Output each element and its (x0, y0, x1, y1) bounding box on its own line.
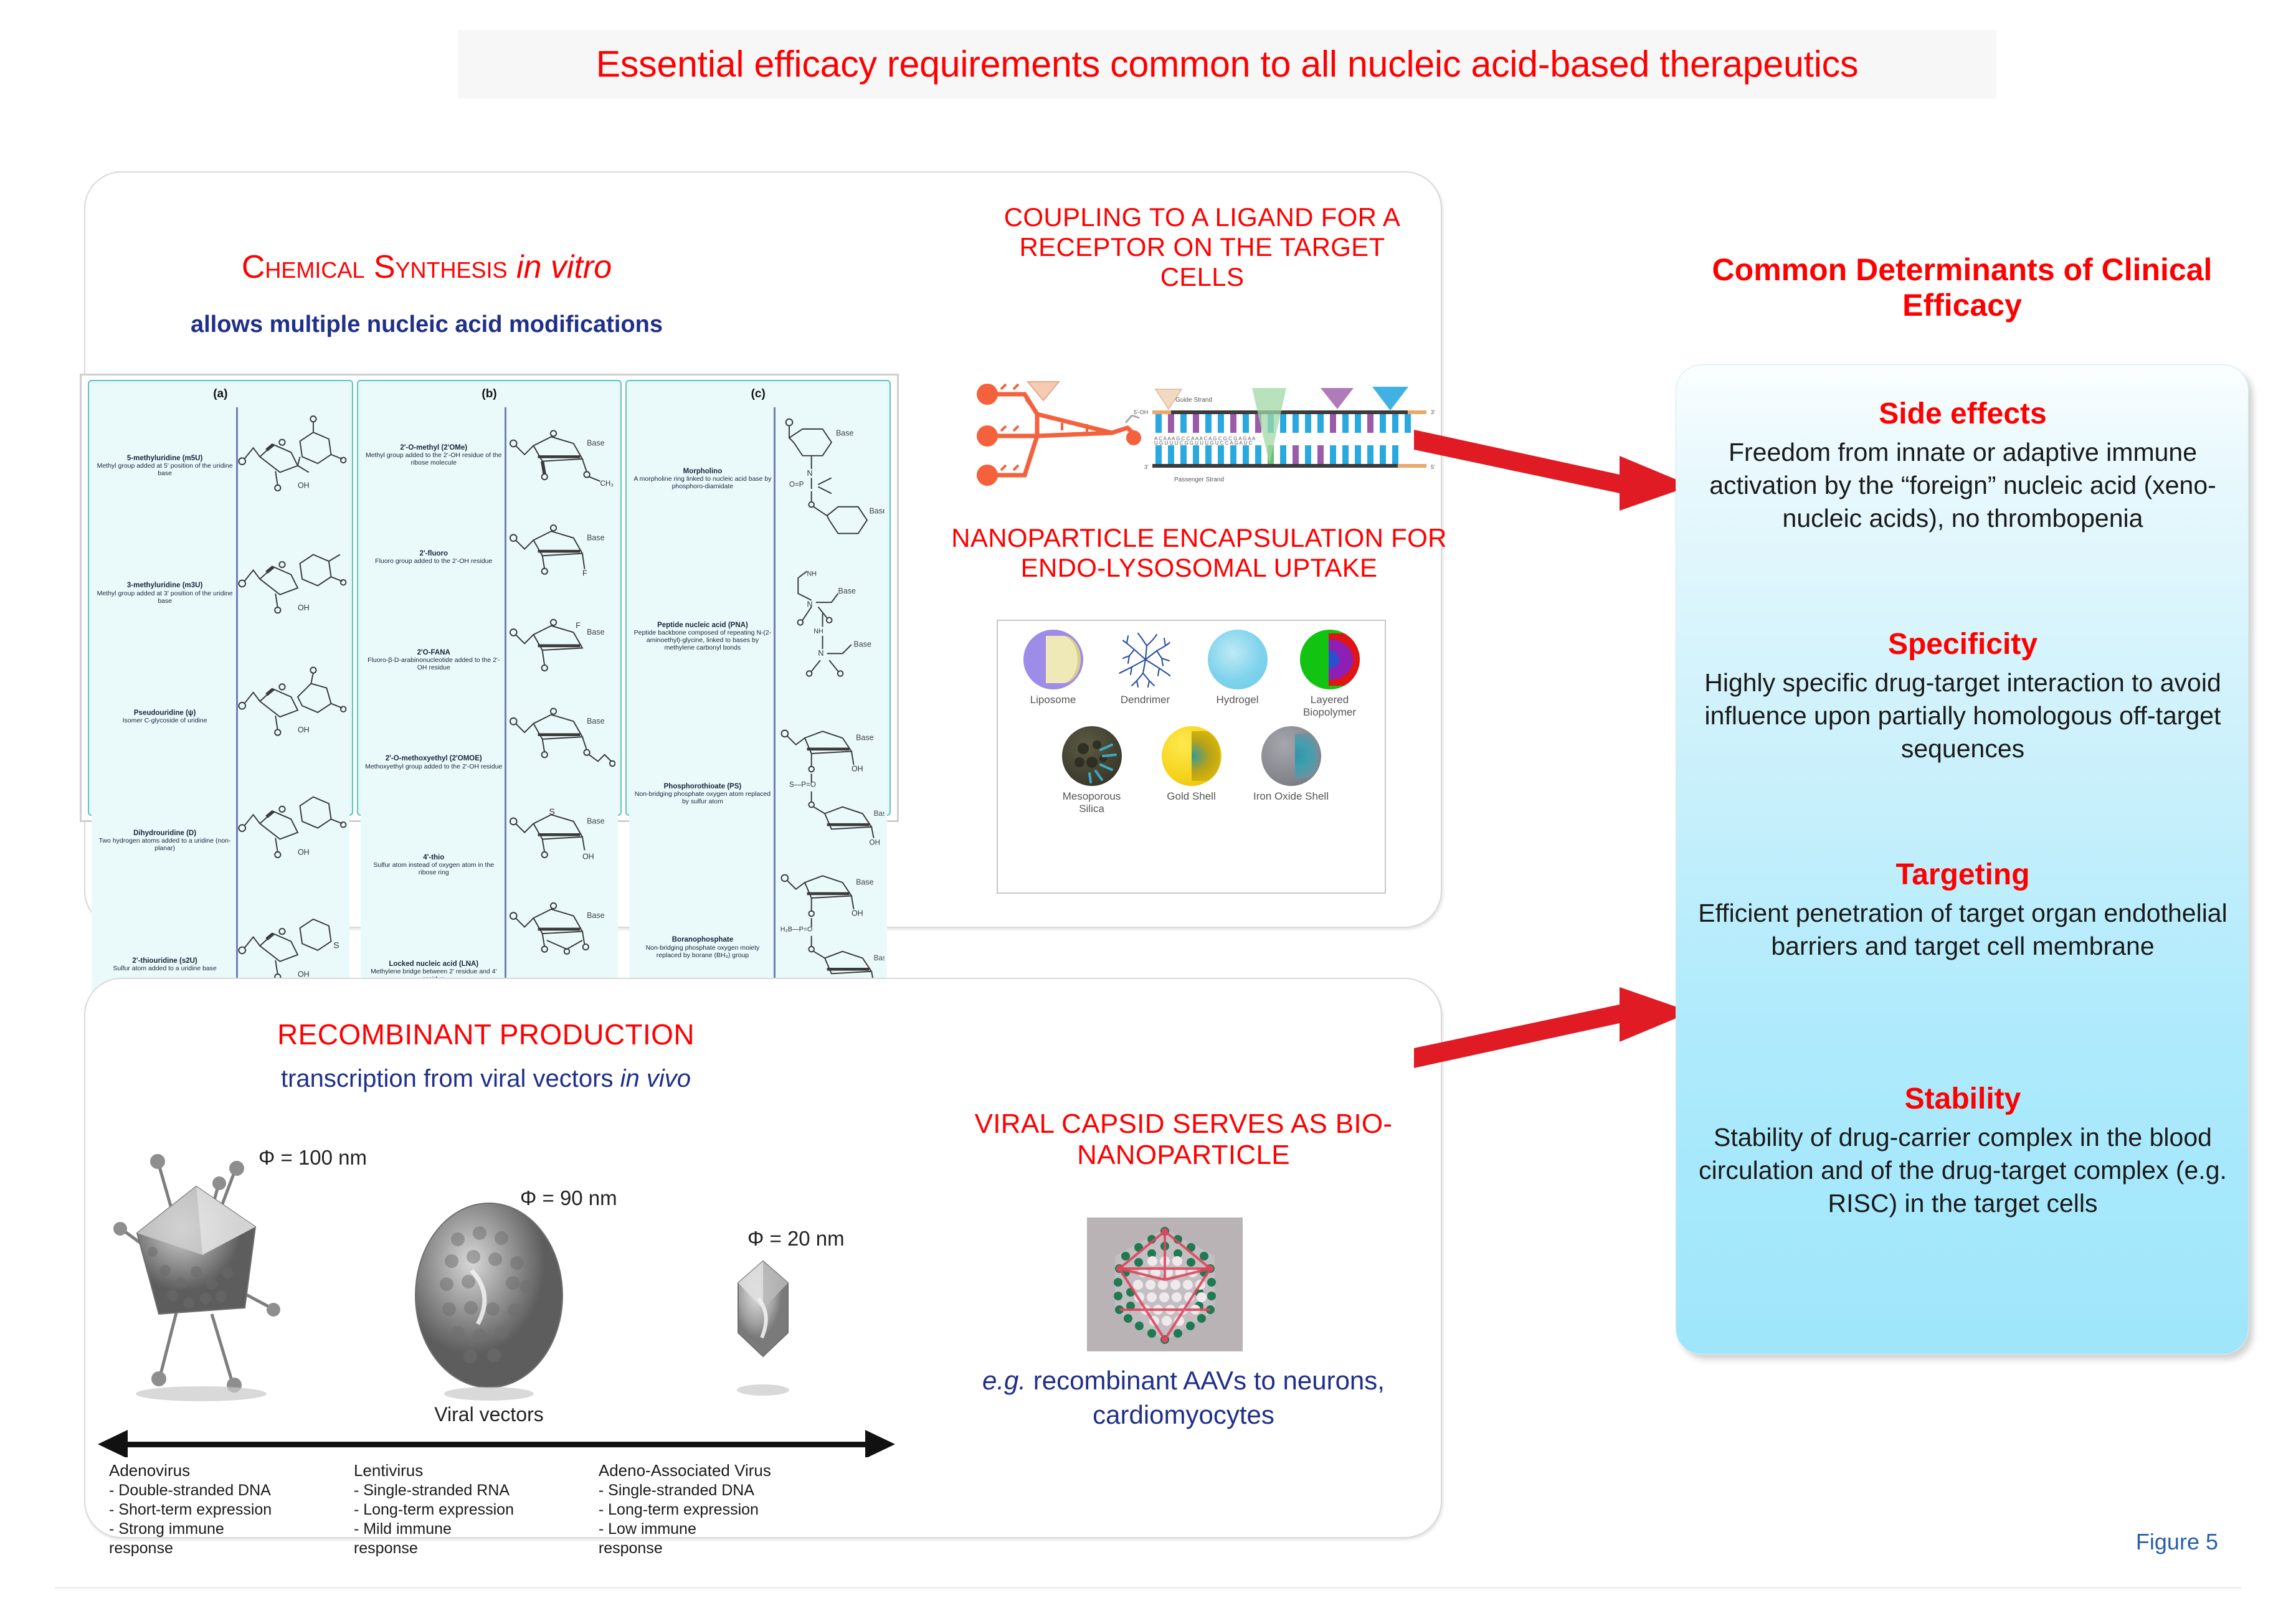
svg-text:3': 3' (1431, 409, 1435, 415)
svg-text:N: N (807, 469, 812, 478)
recombinant-subheading-italic: in vivo (620, 1065, 691, 1092)
svg-text:Base: Base (587, 533, 605, 542)
dendrimer-icon (1116, 630, 1175, 689)
aav-capsid-figure (1087, 1218, 1243, 1351)
galnac-sirna-conjugate-figure: A C A A A G C C A A A C A G C G C G A G … (969, 371, 1467, 504)
svg-text:3': 3' (1144, 464, 1149, 470)
svg-text:Base: Base (853, 640, 871, 649)
page-title: Essential efficacy requirements common t… (596, 43, 1859, 85)
svg-text:Base: Base (838, 587, 856, 595)
efficacy-block-title: Stability (1689, 1081, 2237, 1117)
svg-text:Base: Base (873, 810, 885, 818)
svg-text:Base: Base (873, 954, 885, 962)
svg-text:OH: OH (298, 603, 310, 612)
modification-item: Pseudouridine (ψ) Isomer C-glycoside of … (94, 709, 235, 726)
svg-text:Base: Base (856, 878, 874, 887)
efficacy-block-stability: Stability Stability of drug-carrier comp… (1689, 1081, 2237, 1220)
efficacy-block-body: Freedom from innate or adaptive immune a… (1689, 436, 2237, 536)
efficacy-block-body: Efficient penetration of target organ en… (1689, 897, 2237, 963)
svg-text:Base: Base (587, 628, 605, 636)
modification-item: Boranophosphate Non-bridging phosphate o… (632, 935, 773, 960)
viral-vector-aav: Adeno-Associated Virus - Single-stranded… (599, 1460, 843, 1559)
svg-text:OH: OH (298, 481, 310, 489)
svg-text:Base: Base (869, 506, 885, 515)
clinical-efficacy-panel: Side effects Freedom from innate or adap… (1676, 364, 2249, 1355)
modification-item: 2'-O-methyl (2'OMe) Methyl group added t… (363, 443, 505, 468)
viral-vector-lentivirus: Lentivirus - Single-stranded RNA - Long-… (354, 1460, 599, 1559)
svg-text:OH: OH (298, 726, 310, 734)
modification-item: Dihydrouridine (D) Two hydrogen atoms ad… (94, 829, 235, 853)
modification-item: Morpholino A morpholine ring linked to n… (632, 467, 773, 491)
modification-item: Peptide nucleic acid (PNA) Peptide backb… (632, 621, 773, 653)
nanoparticle-iron-oxide-shell: Iron Oxide Shell (1251, 726, 1332, 815)
gold-shell-icon (1162, 726, 1222, 786)
svg-text:OH: OH (582, 853, 594, 861)
efficacy-block-title: Targeting (1689, 857, 2237, 893)
nanoparticle-hydrogel: Hydrogel (1197, 630, 1278, 719)
svg-text:Base: Base (587, 717, 605, 726)
svg-text:NH: NH (807, 570, 816, 577)
svg-text:F: F (582, 569, 587, 577)
arrow-chemical-to-efficacy (1414, 423, 1694, 514)
efficacy-block-specificity: Specificity Highly specific drug-target … (1689, 627, 2237, 765)
sugar-structure-diagrams: Base CH₃ Base F (505, 402, 615, 1025)
efficacy-block-title: Side effects (1689, 396, 2237, 432)
efficacy-block-body: Stability of drug-carrier complex in the… (1689, 1121, 2237, 1221)
viral-capsid-heading: VIRAL CAPSID SERVES AS BIO-NANOPARTICLE (934, 1109, 1433, 1171)
efficacy-block-side-effects: Side effects Freedom from innate or adap… (1689, 396, 2237, 535)
efficacy-block-title: Specificity (1689, 627, 2237, 663)
efficacy-block-body: Highly specific drug-target interaction … (1689, 666, 2237, 766)
aav-diameter: Φ = 20 nm (747, 1227, 845, 1250)
svg-text:Base: Base (856, 734, 874, 742)
column-letter: (a) (92, 384, 349, 401)
svg-text:CH₃: CH₃ (600, 480, 614, 488)
layered-biopolymer-icon (1300, 630, 1360, 689)
viral-vector-adenovirus: Adenovirus - Double-stranded DNA - Short… (109, 1460, 354, 1559)
modification-item: 2'O-FANA Fluoro-β-D-arabinonucleotide ad… (363, 648, 505, 673)
svg-text:5'-OH: 5'-OH (1134, 409, 1148, 415)
svg-text:F: F (576, 621, 581, 630)
nanoparticle-layered-biopolymer: Layered Biopolymer (1289, 630, 1370, 719)
column-letter: (b) (361, 384, 619, 401)
svg-text:Base: Base (587, 911, 605, 920)
viral-vectors-figure: Φ = 100 nm Φ = 90 nm Φ = 20 nm (90, 1127, 906, 1457)
modification-item: 3-methyluridine (m3U) Methyl group added… (94, 581, 235, 605)
aav-capsid-caption: e.g. recombinant AAVs to neurons, cardio… (934, 1364, 1433, 1432)
svg-text:S: S (549, 807, 555, 817)
figure-caption: Figure 5 (2136, 1529, 2218, 1555)
svg-text:Base: Base (835, 429, 853, 438)
efficacy-block-targeting: Targeting Efficient penetration of targe… (1689, 857, 2237, 963)
nucleic-acid-modifications-table: (a) 5-methyluridine (m5U) Methyl group a… (80, 374, 899, 822)
modification-item: Phosphorothioate (PS) Non-bridging phosp… (632, 782, 773, 806)
svg-text:O=P: O=P (789, 481, 804, 489)
column-letter: (c) (629, 384, 887, 401)
svg-text:NH: NH (814, 628, 823, 635)
chemical-synthesis-heading: Chemical Synthesis in vitro (146, 249, 707, 286)
svg-text:S: S (333, 940, 339, 950)
svg-text:OH: OH (851, 765, 863, 773)
guide-strand-label: Guide Strand (1175, 397, 1212, 404)
chemical-synthesis-heading-text: Chemical Synthesis (242, 249, 508, 285)
ligand-coupling-heading: COUPLING TO A LIGAND FOR A RECEPTOR ON T… (997, 202, 1408, 292)
nanoparticle-types-figure: Liposome Dendrimer Hydrogel (997, 620, 1386, 894)
figure-title-bar: Essential efficacy requirements common t… (458, 30, 1996, 98)
nanoparticle-encapsulation-heading: NANOPARTICLE ENCAPSULATION FOR ENDO-LYSO… (947, 523, 1451, 583)
modification-item: 2'-fluoro Fluoro group added to the 2'-O… (363, 549, 505, 566)
backbone-structure-diagrams: Base N O=P Base NH (774, 402, 885, 1025)
modifications-column-b: (b) 2'-O-methyl (2'OMe) Methyl group add… (357, 380, 622, 816)
liposome-icon (1023, 630, 1083, 689)
lentivirus-diameter: Φ = 90 nm (520, 1186, 617, 1209)
svg-text:Base: Base (587, 439, 605, 448)
svg-text:Base: Base (587, 816, 605, 825)
modification-item: 2'-O-methoxyethyl (2'OMOE) Methoxyethyl … (363, 754, 505, 771)
svg-text:S—P=O: S—P=O (789, 781, 816, 789)
arrow-recombinant-to-efficacy (1414, 984, 1694, 1074)
viral-vectors-legend: Adenovirus - Double-stranded DNA - Short… (109, 1460, 844, 1559)
base-structure-diagrams: OH OH (235, 402, 346, 1025)
modification-item: 5-methyluridine (m5U) Methyl group added… (94, 454, 235, 478)
passenger-strand-label: Passenger Strand (1174, 476, 1224, 483)
recombinant-subheading-plain: transcription from viral vectors (281, 1065, 620, 1092)
aav-caption-rest: recombinant AAVs to neurons, cardiomyocy… (1026, 1366, 1385, 1429)
adenovirus-diameter: Φ = 100 nm (259, 1146, 367, 1169)
nanoparticle-mesoporous-silica: Mesoporous Silica (1051, 726, 1132, 815)
modification-item: 4'-thio Sulfur atom instead of oxygen at… (363, 853, 505, 877)
bottom-divider (55, 1587, 2241, 1589)
nanoparticle-gold-shell: Gold Shell (1151, 726, 1232, 815)
svg-text:OH: OH (869, 838, 880, 846)
svg-text:OH: OH (851, 909, 863, 918)
common-determinants-heading: Common Determinants of Clinical Efficacy (1676, 252, 2249, 323)
svg-text:U G U U U C G G U U U G U C C: U G U U U C G G U U U G U C C A G A U C (1154, 440, 1253, 446)
recombinant-production-subheading: transcription from viral vectors in vivo (206, 1065, 766, 1094)
nanoparticle-liposome: Liposome (1013, 630, 1094, 719)
svg-text:OH: OH (298, 848, 310, 856)
iron-oxide-shell-icon (1261, 726, 1321, 786)
chemical-synthesis-heading-italic: in vitro (516, 249, 612, 285)
viral-vectors-axis-label: Viral vectors (434, 1403, 543, 1426)
recombinant-production-heading: RECOMBINANT PRODUCTION (206, 1018, 766, 1051)
modifications-column-a: (a) 5-methyluridine (m5U) Methyl group a… (88, 380, 353, 816)
chemical-synthesis-subheading: allows multiple nucleic acid modificatio… (146, 311, 707, 338)
hydrogel-icon (1208, 630, 1268, 689)
svg-text:H₃B—P=O: H₃B—P=O (780, 926, 812, 934)
modification-item: 2'-thiouridine (s2U) Sulfur atom added t… (94, 957, 235, 973)
aav-caption-italic: e.g. (982, 1366, 1026, 1395)
modifications-column-c: (c) Morpholino A morpholine ring linked … (625, 380, 891, 816)
mesoporous-silica-icon (1062, 726, 1122, 786)
svg-text:N: N (818, 649, 823, 658)
nanoparticle-dendrimer: Dendrimer (1105, 630, 1186, 719)
